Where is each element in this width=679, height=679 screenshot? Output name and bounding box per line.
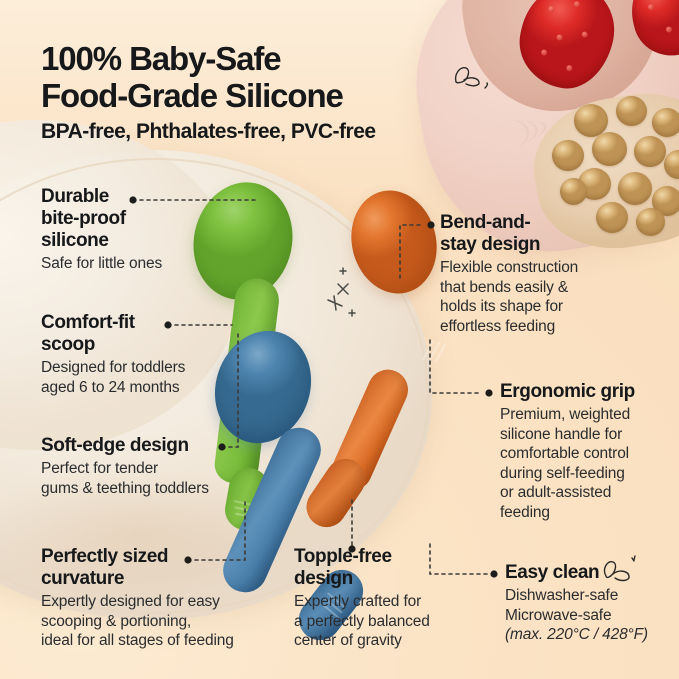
feature-title: Topple-free design <box>294 546 430 590</box>
feature-topple-free-design: Topple-free design Expertly crafted for … <box>294 546 430 651</box>
feature-body: Expertly designed for easy scooping & po… <box>41 592 234 651</box>
headline-subtitle: BPA-free, Phthalates-free, PVC-free <box>41 117 376 147</box>
feature-body: Dishwasher-safe Microwave-safe (max. 220… <box>505 586 648 645</box>
feature-comfort-fit-scoop: Comfort-fit scoop Designed for toddlers … <box>41 312 185 397</box>
bow-sparkle-icon <box>452 54 492 96</box>
headline-block: 100% Baby-Safe Food-Grade Silicone BPA-f… <box>41 40 376 147</box>
feature-ergonomic-grip: Ergonomic grip Premium, weighted silicon… <box>500 381 635 522</box>
headline-line-1: 100% Baby-Safe <box>41 40 376 77</box>
feature-perfectly-sized-curvature: Perfectly sized curvature Expertly desig… <box>41 546 234 651</box>
feature-body: Designed for toddlers aged 6 to 24 month… <box>41 358 185 397</box>
feature-body: Expertly crafted for a perfectly balance… <box>294 592 430 651</box>
feature-title: Bend-and- stay design <box>440 212 578 256</box>
bow-sparkle-icon <box>600 552 638 588</box>
feature-title: Durable bite-proof silicone <box>41 186 162 252</box>
feature-title: Soft-edge design <box>41 435 209 457</box>
feature-body: Perfect for tender gums & teething toddl… <box>41 459 209 498</box>
sparkle-cluster-icon <box>318 262 372 318</box>
feature-body: Premium, weighted silicone handle for co… <box>500 405 635 522</box>
feature-title: Ergonomic grip <box>500 381 635 403</box>
feature-title: Comfort-fit scoop <box>41 312 185 356</box>
feature-body: Flexible construction that bends easily … <box>440 258 578 336</box>
infographic-canvas: 100% Baby-Safe Food-Grade Silicone BPA-f… <box>0 0 679 679</box>
feature-body: Safe for little ones <box>41 254 162 274</box>
feature-durable-bite-proof-silicone: Durable bite-proof silicone Safe for lit… <box>41 186 162 274</box>
feature-soft-edge-design: Soft-edge design Perfect for tender gums… <box>41 435 209 498</box>
feature-title: Perfectly sized curvature <box>41 546 234 590</box>
headline-line-2: Food-Grade Silicone <box>41 77 376 114</box>
feature-bend-and-stay-design: Bend-and- stay design Flexible construct… <box>440 212 578 336</box>
